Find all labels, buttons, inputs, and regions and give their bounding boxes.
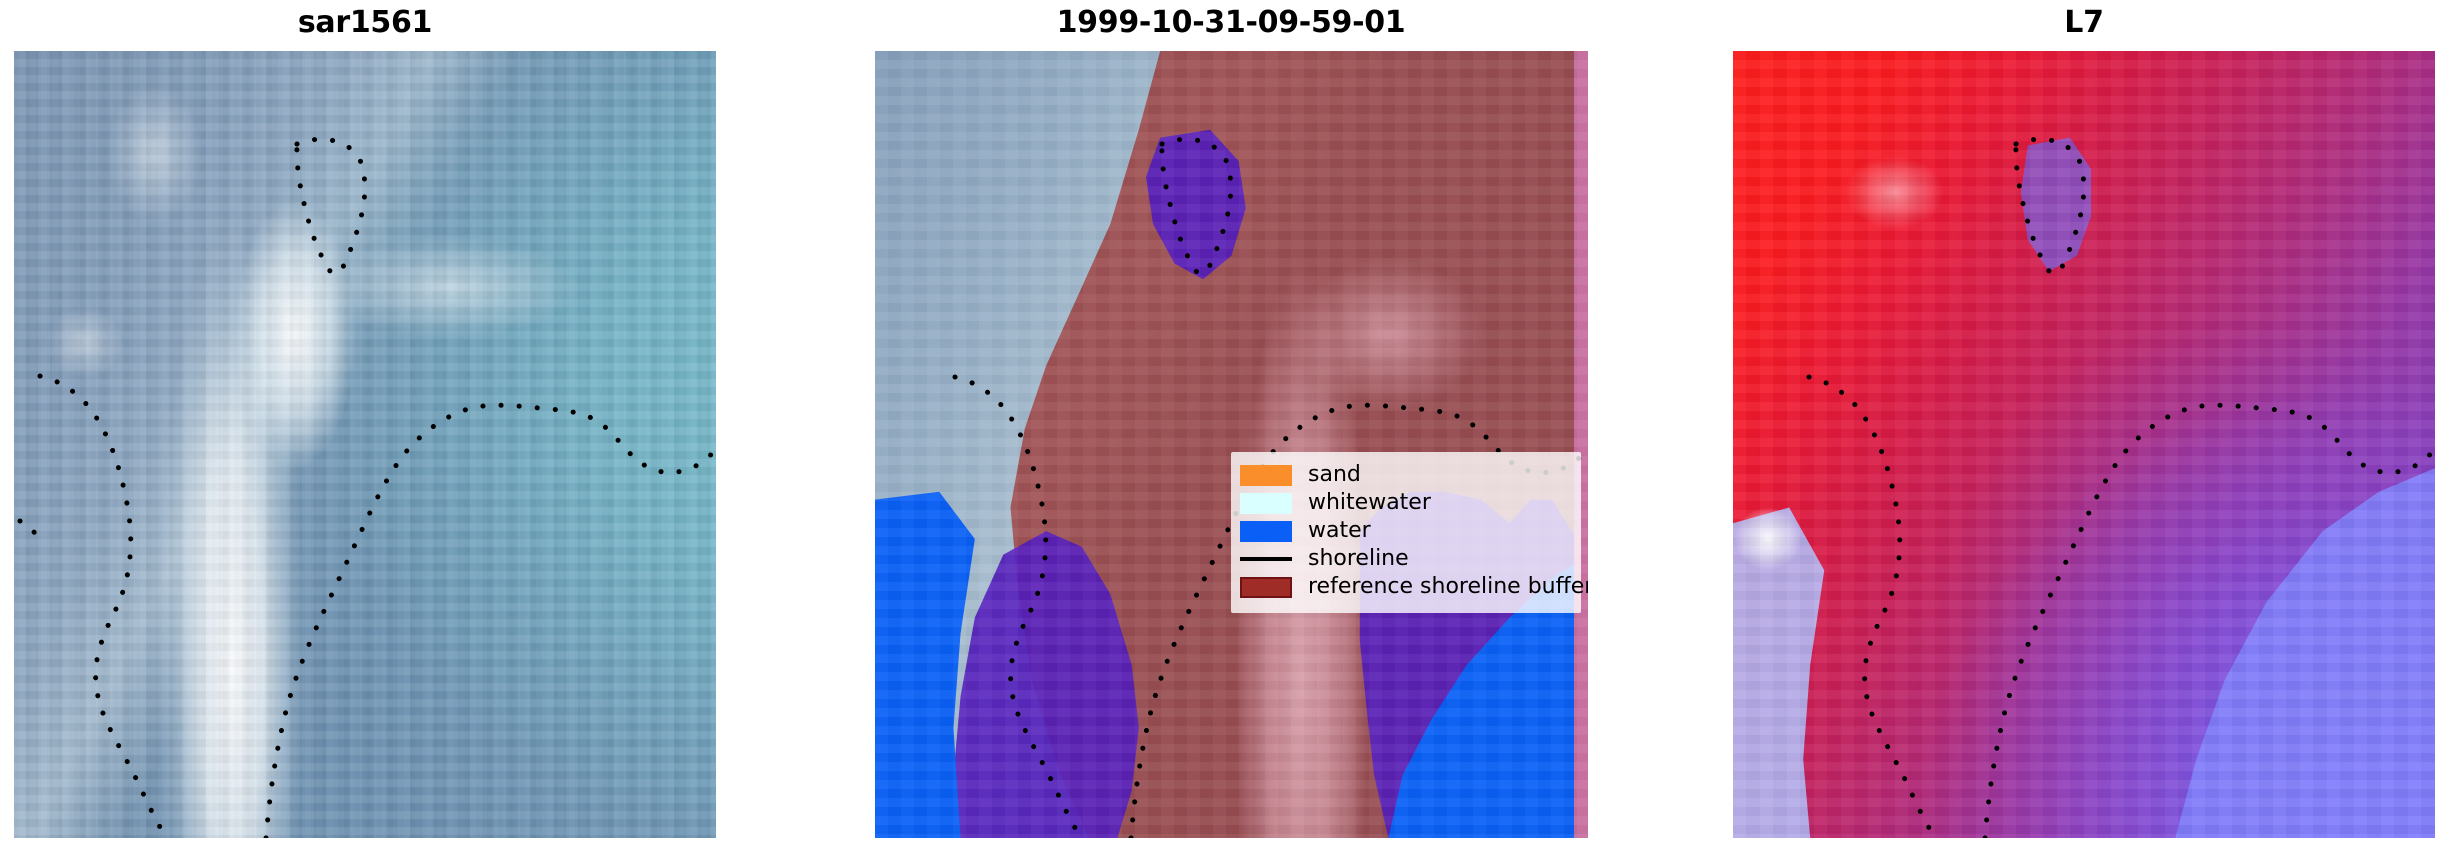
legend-label-water: water: [1308, 519, 1371, 543]
classified-image-canvas: sand whitewater water shoreline referenc…: [875, 51, 1588, 838]
legend-item-reference-shoreline-buffer[interactable]: reference shoreline buffer: [1240, 573, 1571, 601]
classified-image-panel[interactable]: sand whitewater water shoreline referenc…: [875, 51, 1588, 838]
legend-item-sand[interactable]: sand: [1240, 461, 1571, 489]
legend-label-whitewater: whitewater: [1308, 491, 1431, 515]
sar-pixel-texture: [14, 51, 716, 838]
class-legend[interactable]: sand whitewater water shoreline referenc…: [1231, 452, 1581, 613]
legend-label-sand: sand: [1308, 463, 1361, 487]
sar-image-canvas: [14, 51, 716, 838]
legend-item-whitewater[interactable]: whitewater: [1240, 489, 1571, 517]
classified-pixel-texture: [875, 51, 1588, 838]
l7-pixel-texture: [1733, 51, 2435, 838]
l7-image-canvas: [1733, 51, 2435, 838]
whitewater-swatch: [1240, 493, 1292, 514]
shoreline-line-swatch: [1240, 549, 1292, 570]
l7-image-panel[interactable]: [1733, 51, 2435, 838]
legend-label-shoreline: shoreline: [1308, 547, 1409, 571]
figure-canvas: sar1561 1999-10-31-09-59-01: [0, 0, 2460, 849]
water-swatch: [1240, 521, 1292, 542]
sar-image-panel[interactable]: [14, 51, 716, 838]
panel-title-l7: L7: [1734, 6, 2434, 40]
panel-title-sar: sar1561: [15, 6, 715, 40]
legend-item-shoreline[interactable]: shoreline: [1240, 545, 1571, 573]
legend-label-reference-shoreline-buffer: reference shoreline buffer: [1308, 575, 1588, 599]
reference-shoreline-buffer-swatch: [1240, 577, 1292, 598]
sand-swatch: [1240, 465, 1292, 486]
panel-title-classified: 1999-10-31-09-59-01: [881, 6, 1581, 40]
legend-item-water[interactable]: water: [1240, 517, 1571, 545]
